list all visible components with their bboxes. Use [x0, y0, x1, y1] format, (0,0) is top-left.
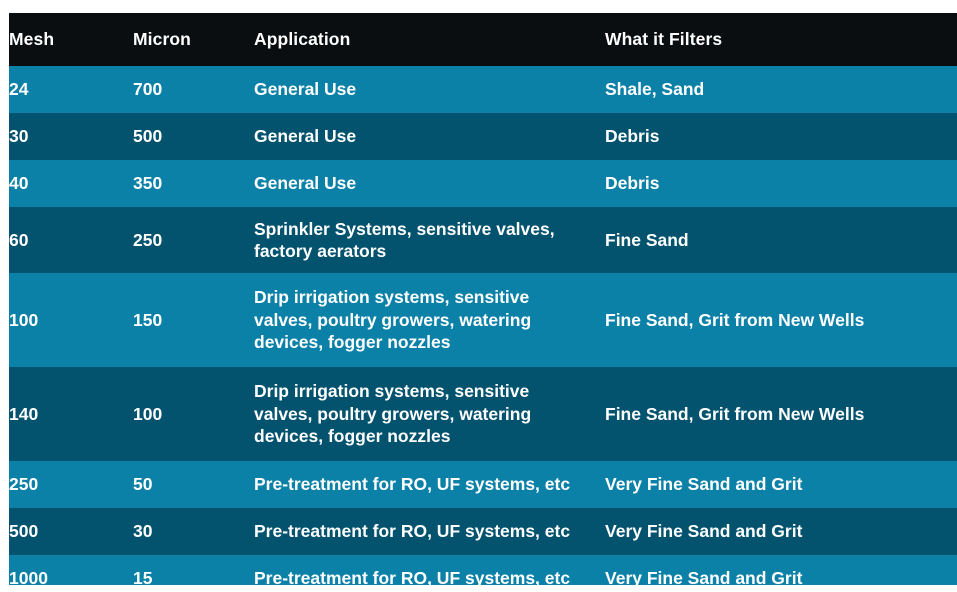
column-header-mesh: Mesh: [9, 13, 133, 66]
table-row: 24700General UseShale, Sand: [9, 66, 957, 113]
cell-mesh-text: 500: [9, 521, 38, 541]
cell-micron: 350: [133, 160, 254, 207]
cell-filters-text: Very Fine Sand and Grit: [605, 474, 802, 494]
cell-micron-text: 350: [133, 173, 162, 193]
cell-micron: 700: [133, 66, 254, 113]
cell-mesh-text: 30: [9, 126, 28, 146]
cell-filters-text: Shale, Sand: [605, 79, 704, 99]
cell-micron-text: 150: [133, 310, 162, 330]
cell-micron-text: 15: [133, 568, 152, 585]
cell-filters: Very Fine Sand and Grit: [605, 555, 957, 585]
cell-filters: Fine Sand, Grit from New Wells: [605, 273, 957, 367]
cell-mesh: 40: [9, 160, 133, 207]
cell-micron: 15: [133, 555, 254, 585]
cell-mesh-text: 60: [9, 230, 28, 250]
cell-micron-text: 700: [133, 79, 162, 99]
cell-mesh-text: 40: [9, 173, 28, 193]
cell-mesh: 30: [9, 113, 133, 160]
mesh-table-container: Mesh Micron Application What it Filters …: [9, 13, 957, 585]
cell-application-text: General Use: [254, 125, 576, 147]
table-header: Mesh Micron Application What it Filters: [9, 13, 957, 66]
cell-application: Pre-treatment for RO, UF systems, etc: [254, 461, 605, 508]
mesh-micron-table: Mesh Micron Application What it Filters …: [9, 13, 957, 585]
column-header-micron: Micron: [133, 13, 254, 66]
cell-filters-text: Fine Sand, Grit from New Wells: [605, 310, 864, 330]
cell-micron: 150: [133, 273, 254, 367]
cell-application-text: General Use: [254, 172, 576, 194]
cell-application-text: Pre-treatment for RO, UF systems, etc: [254, 567, 576, 585]
cell-filters: Debris: [605, 160, 957, 207]
cell-micron: 500: [133, 113, 254, 160]
cell-application-text: Drip irrigation systems, sensitive valve…: [254, 380, 576, 447]
cell-filters: Very Fine Sand and Grit: [605, 508, 957, 555]
cell-application: Sprinkler Systems, sensitive valves, fac…: [254, 207, 605, 273]
cell-filters: Very Fine Sand and Grit: [605, 461, 957, 508]
cell-mesh: 140: [9, 367, 133, 461]
cell-filters-text: Fine Sand: [605, 230, 689, 250]
cell-filters-text: Very Fine Sand and Grit: [605, 521, 802, 541]
column-header-what-it-filters: What it Filters: [605, 13, 957, 66]
table-header-row: Mesh Micron Application What it Filters: [9, 13, 957, 66]
cell-filters: Debris: [605, 113, 957, 160]
cell-micron: 100: [133, 367, 254, 461]
cell-application: General Use: [254, 66, 605, 113]
table-row: 40350General UseDebris: [9, 160, 957, 207]
cell-application: General Use: [254, 113, 605, 160]
cell-mesh: 100: [9, 273, 133, 367]
cell-micron-text: 50: [133, 474, 152, 494]
table-row: 60250Sprinkler Systems, sensitive valves…: [9, 207, 957, 273]
cell-mesh: 60: [9, 207, 133, 273]
cell-filters: Fine Sand: [605, 207, 957, 273]
cell-mesh: 24: [9, 66, 133, 113]
cell-mesh: 250: [9, 461, 133, 508]
cell-micron-text: 250: [133, 230, 162, 250]
table-row: 30500General UseDebris: [9, 113, 957, 160]
cell-filters-text: Debris: [605, 173, 659, 193]
table-row: 50030Pre-treatment for RO, UF systems, e…: [9, 508, 957, 555]
table-row: 140100Drip irrigation systems, sensitive…: [9, 367, 957, 461]
cell-micron: 50: [133, 461, 254, 508]
cell-filters: Fine Sand, Grit from New Wells: [605, 367, 957, 461]
cell-filters-text: Fine Sand, Grit from New Wells: [605, 404, 864, 424]
cell-application-text: Pre-treatment for RO, UF systems, etc: [254, 520, 576, 542]
cell-filters: Shale, Sand: [605, 66, 957, 113]
cell-micron: 250: [133, 207, 254, 273]
table-row: 100015Pre-treatment for RO, UF systems, …: [9, 555, 957, 585]
cell-mesh-text: 100: [9, 310, 38, 330]
cell-micron-text: 100: [133, 404, 162, 424]
cell-application-text: Drip irrigation systems, sensitive valve…: [254, 286, 576, 353]
cell-mesh-text: 250: [9, 474, 38, 494]
cell-mesh-text: 1000: [9, 568, 48, 585]
column-header-application: Application: [254, 13, 605, 66]
cell-mesh-text: 24: [9, 79, 28, 99]
cell-application-text: Pre-treatment for RO, UF systems, etc: [254, 473, 576, 495]
cell-application: Drip irrigation systems, sensitive valve…: [254, 367, 605, 461]
cell-mesh: 500: [9, 508, 133, 555]
table-body: 24700General UseShale, Sand30500General …: [9, 66, 957, 585]
cell-application-text: Sprinkler Systems, sensitive valves, fac…: [254, 218, 576, 263]
cell-mesh-text: 140: [9, 404, 38, 424]
table-row: 25050Pre-treatment for RO, UF systems, e…: [9, 461, 957, 508]
cell-application-text: General Use: [254, 78, 576, 100]
cell-mesh: 1000: [9, 555, 133, 585]
cell-application: General Use: [254, 160, 605, 207]
cell-application: Pre-treatment for RO, UF systems, etc: [254, 555, 605, 585]
table-row: 100150Drip irrigation systems, sensitive…: [9, 273, 957, 367]
cell-micron: 30: [133, 508, 254, 555]
cell-micron-text: 30: [133, 521, 152, 541]
cell-application: Drip irrigation systems, sensitive valve…: [254, 273, 605, 367]
cell-micron-text: 500: [133, 126, 162, 146]
cell-filters-text: Very Fine Sand and Grit: [605, 568, 802, 585]
cell-application: Pre-treatment for RO, UF systems, etc: [254, 508, 605, 555]
cell-filters-text: Debris: [605, 126, 659, 146]
